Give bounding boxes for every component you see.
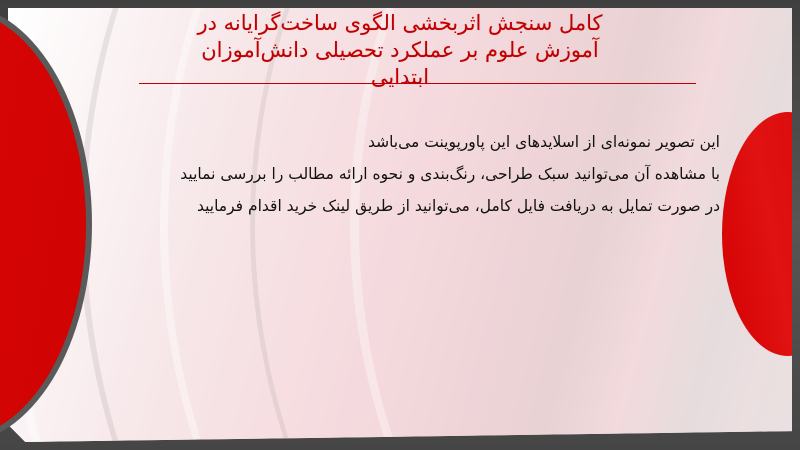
body-line-1: این تصویر نمونه‌ای از اسلایدهای این پاور… — [80, 126, 720, 158]
title-underline-rule — [139, 83, 696, 84]
slide-body-text: این تصویر نمونه‌ای از اسلایدهای این پاور… — [80, 126, 720, 222]
body-line-2: با مشاهده آن می‌توانید سبک طراحی، رنگ‌بن… — [80, 158, 720, 190]
body-line-3: در صورت تمایل به دریافت فایل کامل، می‌تو… — [80, 190, 720, 222]
presentation-slide: کامل سنجش اثربخشی الگوی ساخت‌گرایانه در … — [0, 0, 800, 450]
background-arc-decoration — [8, 8, 792, 442]
slide-content-panel: کامل سنجش اثربخشی الگوی ساخت‌گرایانه در … — [8, 8, 792, 442]
